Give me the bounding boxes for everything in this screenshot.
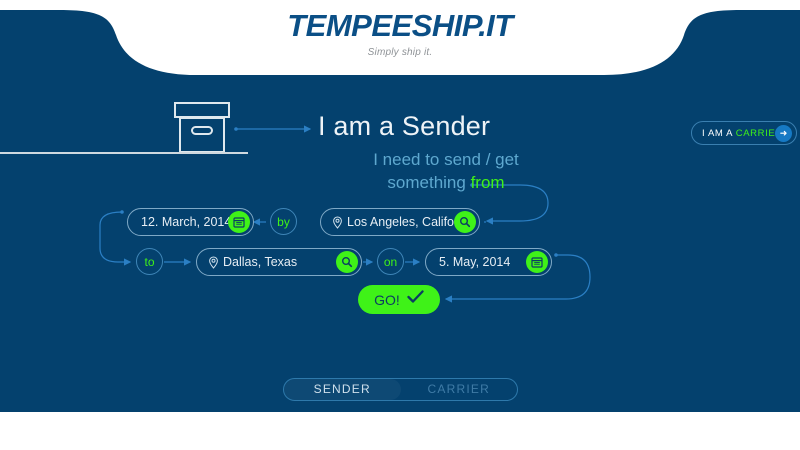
go-submit-button[interactable]: GO! bbox=[358, 285, 440, 314]
map-pin-icon bbox=[208, 256, 219, 269]
hero-headline: I am a Sender I need to send / get somet… bbox=[318, 110, 638, 194]
role-tab-switcher[interactable]: SENDER CARRIER bbox=[283, 378, 518, 401]
box-icon bbox=[163, 100, 241, 156]
tab-carrier[interactable]: CARRIER bbox=[401, 379, 518, 400]
connector-by-text: by bbox=[277, 215, 290, 229]
tab-sender[interactable]: SENDER bbox=[284, 379, 401, 400]
carrier-label-prefix: I AM A bbox=[702, 128, 736, 139]
search-icon[interactable] bbox=[454, 211, 476, 233]
connector-on-text: on bbox=[384, 255, 397, 269]
pickup-date-value: 12. March, 2014 bbox=[141, 215, 231, 229]
map-pin-icon bbox=[332, 216, 343, 229]
calendar-icon[interactable] bbox=[526, 251, 548, 273]
wire-date-to-to bbox=[100, 212, 130, 262]
connector-label-by[interactable]: by bbox=[270, 208, 297, 235]
check-icon bbox=[407, 290, 424, 309]
go-button-label: GO! bbox=[374, 292, 400, 308]
delivery-date-input[interactable]: 5. May, 2014 bbox=[425, 248, 552, 276]
page-title: I am a Sender bbox=[318, 110, 638, 143]
arrow-right-icon[interactable]: ➜ bbox=[775, 125, 792, 142]
main-panel: I am a Sender I need to send / get somet… bbox=[0, 5, 800, 412]
app-root: I am a Sender I need to send / get somet… bbox=[0, 0, 800, 450]
ground-line bbox=[0, 151, 248, 155]
hero-subtitle-highlight: from bbox=[471, 173, 505, 192]
from-location-input[interactable]: Los Angeles, California bbox=[320, 208, 480, 236]
hero-subtitle-line1: I need to send / get bbox=[373, 150, 519, 169]
connector-label-on[interactable]: on bbox=[377, 248, 404, 275]
hero-subtitle-line2: something bbox=[387, 173, 470, 192]
connector-to-text: to bbox=[144, 255, 154, 269]
delivery-date-value: 5. May, 2014 bbox=[439, 255, 510, 269]
to-location-value: Dallas, Texas bbox=[223, 255, 297, 269]
connector-label-to[interactable]: to bbox=[136, 248, 163, 275]
carrier-button-label: I AM A CARRIER bbox=[692, 128, 783, 139]
pickup-date-input[interactable]: 12. March, 2014 bbox=[127, 208, 254, 236]
hero-subtitle: I need to send / get something from bbox=[312, 148, 580, 194]
search-icon[interactable] bbox=[336, 251, 358, 273]
calendar-icon[interactable] bbox=[228, 211, 250, 233]
to-location-input[interactable]: Dallas, Texas bbox=[196, 248, 362, 276]
i-am-a-carrier-button[interactable]: I AM A CARRIER ➜ bbox=[691, 121, 797, 145]
